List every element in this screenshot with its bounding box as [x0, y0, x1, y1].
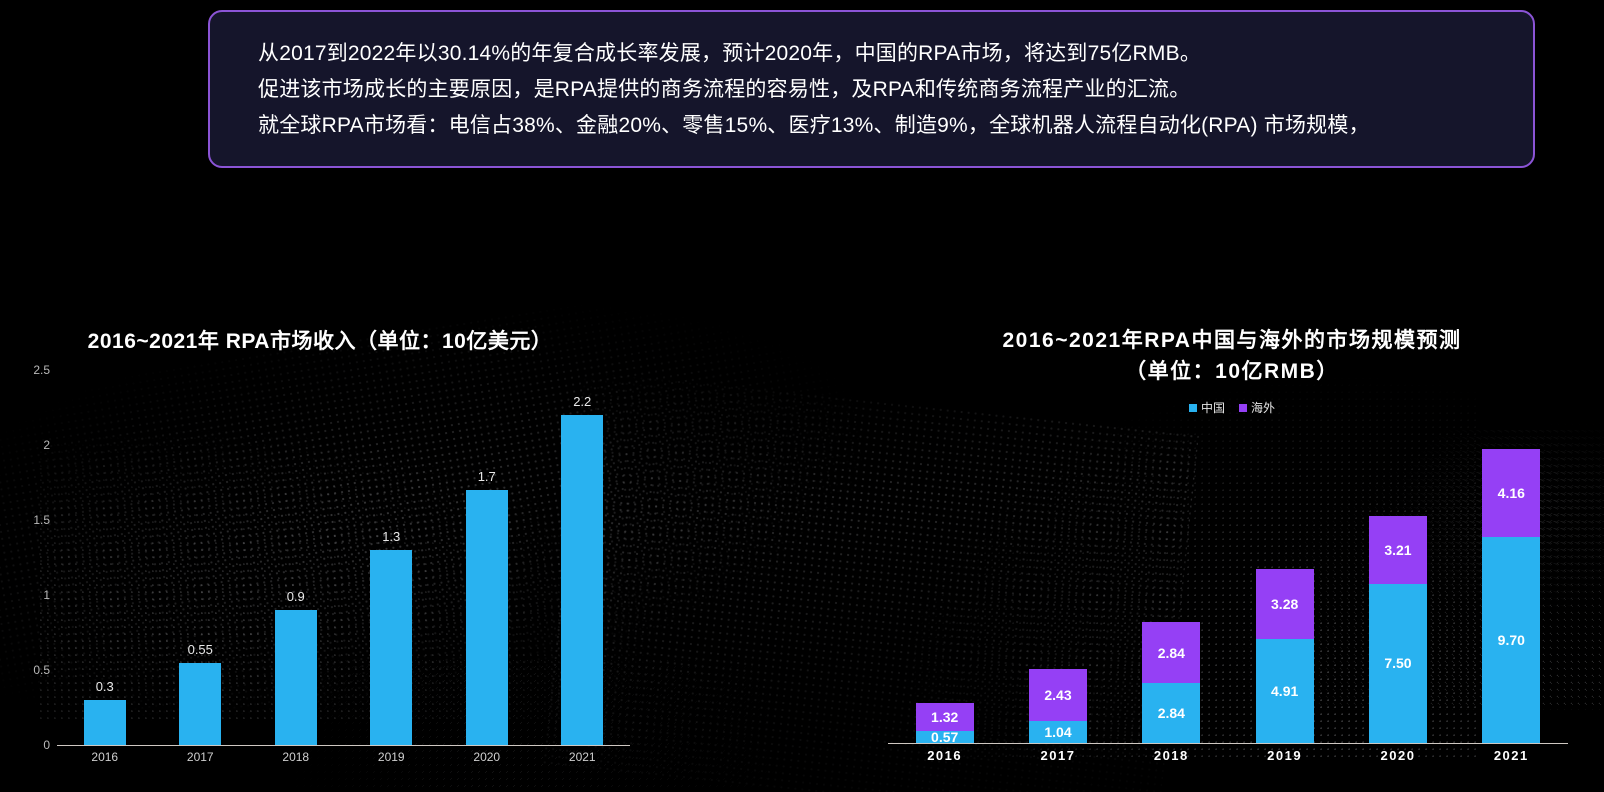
x-axis-tick-label: 2021	[535, 750, 630, 764]
chart-right-legend: 中国 海外	[860, 399, 1604, 416]
bar[interactable]	[370, 550, 412, 745]
callout-text-box: 从2017到2022年以30.14%的年复合成长率发展，预计2020年，中国的R…	[208, 10, 1535, 168]
bar-group[interactable]: 1.3	[344, 370, 439, 745]
bar[interactable]	[179, 663, 221, 746]
x-axis-tick-label: 2017	[1004, 748, 1112, 763]
bar-segment-overseas[interactable]: 2.84	[1142, 622, 1200, 682]
legend-label-china: 中国	[1201, 399, 1225, 416]
bar-group[interactable]: 1.7	[439, 370, 534, 745]
x-axis-tick-label: 2018	[248, 750, 343, 764]
callout-line-3: 就全球RPA市场看：电信占38%、金融20%、零售15%、医疗13%、制造9%，…	[258, 108, 1533, 144]
chart-rpa-market-revenue: 2016~2021年 RPA市场收入（单位：10亿美元） 2.521.510.5…	[0, 325, 700, 765]
stacked-bar-group[interactable]: 1.320.57	[891, 435, 999, 743]
bar-segment-overseas[interactable]: 4.16	[1482, 449, 1540, 537]
chart-right-title-line-2: （单位：10亿RMB）	[882, 356, 1582, 387]
stacked-bar-group[interactable]: 2.431.04	[1004, 435, 1112, 743]
x-axis-tick-label: 2021	[1457, 748, 1565, 763]
bar-value-label: 2.2	[573, 394, 591, 409]
chart-right-axis-line	[888, 743, 1568, 744]
x-axis-tick-label: 2016	[891, 748, 999, 763]
x-axis-tick-label: 2017	[153, 750, 248, 764]
stacked-bar-group[interactable]: 4.169.70	[1457, 435, 1565, 743]
x-axis-tick-label: 2018	[1117, 748, 1225, 763]
y-axis-tick-label: 2	[43, 438, 50, 452]
bar-segment-overseas[interactable]: 2.43	[1029, 669, 1087, 721]
bar-segment-overseas[interactable]: 3.28	[1256, 569, 1314, 639]
chart-left-x-axis-labels: 201620172018201920202021	[57, 750, 630, 764]
bar-segment-china[interactable]: 9.70	[1482, 537, 1540, 743]
bar-value-label: 1.3	[382, 529, 400, 544]
x-axis-tick-label: 2020	[1344, 748, 1452, 763]
bar-segment-china[interactable]: 4.91	[1256, 639, 1314, 743]
bar-segment-overseas[interactable]: 3.21	[1369, 516, 1427, 584]
bar-value-label: 1.7	[478, 469, 496, 484]
chart-left-plot-area: 2.521.510.50 0.30.550.91.31.72.2 2016201…	[0, 370, 700, 770]
bar-segment-china[interactable]: 2.84	[1142, 683, 1200, 743]
bar-group[interactable]: 0.3	[57, 370, 152, 745]
bar-group[interactable]: 2.2	[535, 370, 630, 745]
stacked-bar-group[interactable]: 3.284.91	[1231, 435, 1339, 743]
bar-segment-overseas[interactable]: 1.32	[916, 703, 974, 731]
bar-segment-china[interactable]: 1.04	[1029, 721, 1087, 743]
y-axis-tick-label: 1.5	[33, 513, 50, 527]
chart-right-x-axis-labels: 201620172018201920202021	[888, 748, 1568, 763]
chart-left-y-axis: 2.521.510.50	[20, 370, 50, 770]
bar-value-label: 0.55	[188, 642, 213, 657]
legend-label-overseas: 海外	[1251, 399, 1275, 416]
bar-segment-china[interactable]: 7.50	[1369, 584, 1427, 743]
chart-right-plot-area: 1.320.572.431.042.842.843.284.913.217.50…	[860, 435, 1604, 775]
y-axis-tick-label: 2.5	[33, 363, 50, 377]
y-axis-tick-label: 0	[43, 738, 50, 752]
bar-group[interactable]: 0.9	[248, 370, 343, 745]
x-axis-tick-label: 2019	[344, 750, 439, 764]
legend-item-overseas[interactable]: 海外	[1239, 399, 1275, 416]
bar[interactable]	[561, 415, 603, 745]
chart-left-axis-line	[57, 745, 630, 746]
stacked-bar-group[interactable]: 2.842.84	[1117, 435, 1225, 743]
bar[interactable]	[275, 610, 317, 745]
legend-swatch-china	[1189, 404, 1197, 412]
callout-line-1: 从2017到2022年以30.14%的年复合成长率发展，预计2020年，中国的R…	[258, 36, 1533, 72]
legend-item-china[interactable]: 中国	[1189, 399, 1225, 416]
x-axis-tick-label: 2019	[1231, 748, 1339, 763]
chart-right-title-line-1: 2016~2021年RPA中国与海外的市场规模预测	[882, 325, 1582, 356]
y-axis-tick-label: 1	[43, 588, 50, 602]
bar-segment-china[interactable]: 0.57	[916, 731, 974, 743]
x-axis-tick-label: 2016	[57, 750, 152, 764]
bar[interactable]	[84, 700, 126, 745]
chart-left-title: 2016~2021年 RPA市场收入（单位：10亿美元）	[20, 325, 620, 355]
chart-right-bars: 1.320.572.431.042.842.843.284.913.217.50…	[888, 435, 1568, 743]
y-axis-tick-label: 0.5	[33, 663, 50, 677]
stacked-bar-group[interactable]: 3.217.50	[1344, 435, 1452, 743]
x-axis-tick-label: 2020	[439, 750, 534, 764]
bar-group[interactable]: 0.55	[153, 370, 248, 745]
callout-line-2: 促进该市场成长的主要原因，是RPA提供的商务流程的容易性，及RPA和传统商务流程…	[258, 72, 1533, 108]
legend-swatch-overseas	[1239, 404, 1247, 412]
bar-value-label: 0.3	[96, 679, 114, 694]
chart-left-bars: 0.30.550.91.31.72.2	[57, 370, 630, 745]
bar-value-label: 0.9	[287, 589, 305, 604]
chart-rpa-china-overseas-forecast: 2016~2021年RPA中国与海外的市场规模预测 （单位：10亿RMB） 中国…	[860, 325, 1604, 775]
bar[interactable]	[466, 490, 508, 745]
